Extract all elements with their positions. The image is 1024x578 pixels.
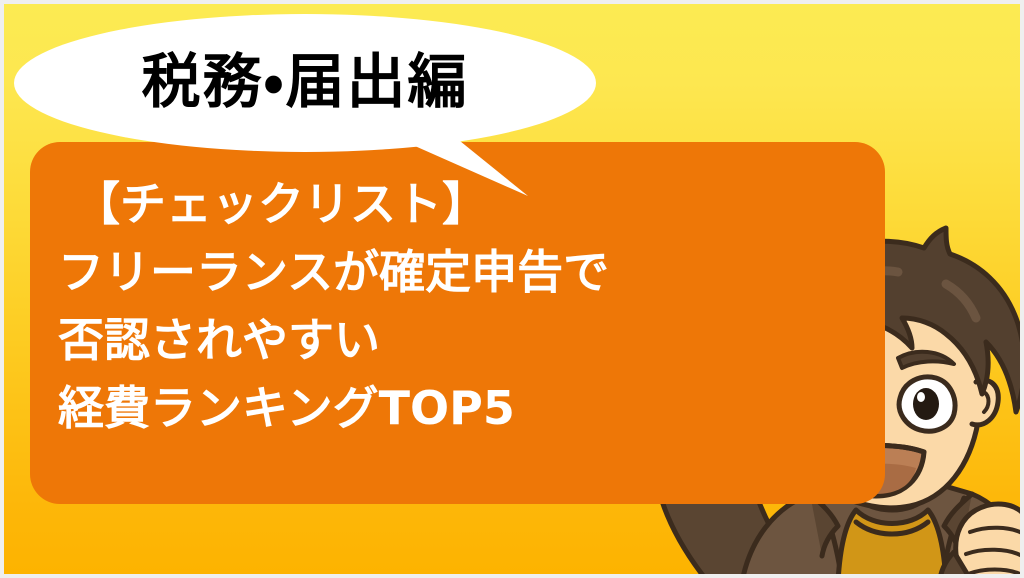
speech-bubble: 税務・届出編 [8, 8, 568, 198]
speech-bubble-label: 税務・届出編 [14, 14, 596, 152]
eye-highlight-right [917, 392, 925, 402]
headline-line-4: 経費ランキングTOP5 [58, 374, 865, 442]
artwork-frame: 【チェックリスト】 フリーランスが確定申告で 否認されやすい 経費ランキングTO… [4, 4, 1020, 574]
headline-line-2: フリーランスが確定申告で [58, 238, 865, 306]
headline-line-3: 否認されやすい [58, 306, 865, 374]
headline-text: 【チェックリスト】 フリーランスが確定申告で 否認されやすい 経費ランキングTO… [58, 170, 865, 442]
pupil-right [913, 388, 939, 420]
thumbnail-canvas: 【チェックリスト】 フリーランスが確定申告で 否認されやすい 経費ランキングTO… [0, 0, 1024, 578]
